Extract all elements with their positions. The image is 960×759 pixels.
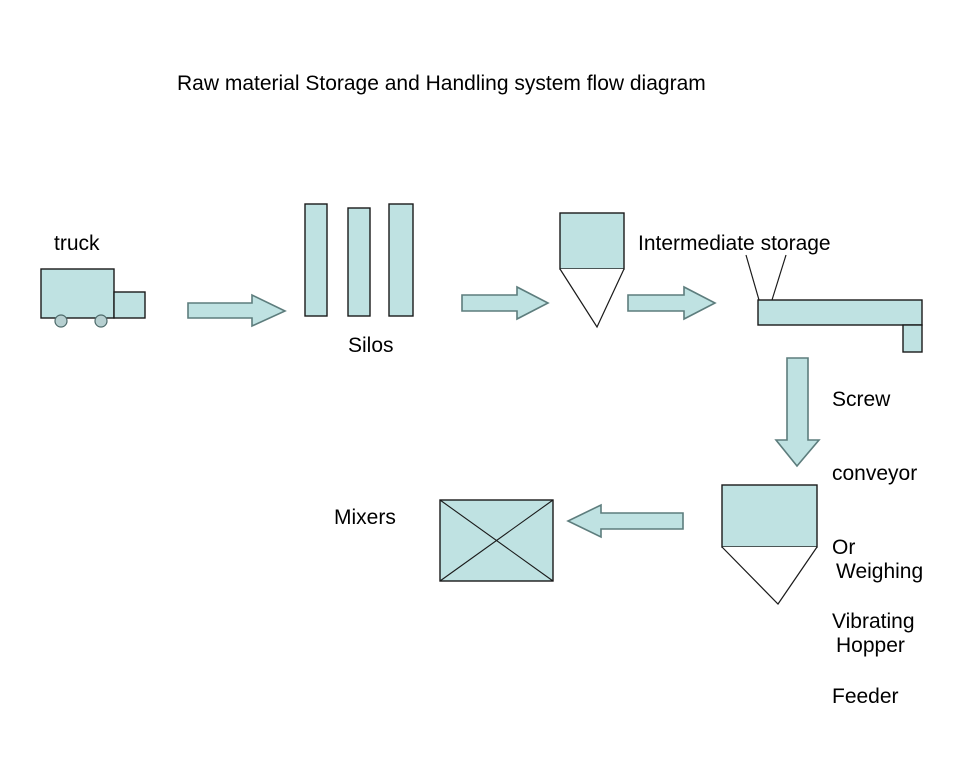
weighing-hopper-funnel (722, 547, 817, 604)
screw-conveyor-bar (758, 300, 922, 325)
label-weighing-hopper: Weighing Hopper (836, 510, 923, 708)
silos-shape[interactable] (305, 204, 413, 316)
intermediate-storage-shape[interactable] (560, 213, 624, 327)
truck-wheel-front (55, 315, 67, 327)
weighing-hopper-bin (722, 485, 817, 547)
label-silos: Silos (348, 334, 394, 359)
label-weighing-hopper-line-2: Hopper (836, 634, 923, 659)
silo-1 (305, 204, 327, 316)
arrow-weighing-hopper-to-mixers[interactable] (568, 505, 683, 537)
arrow-intermediate-storage-to-conveyor[interactable] (628, 287, 715, 319)
leader-line-right (772, 255, 786, 300)
label-screw-conveyor-line-1: Screw (832, 388, 917, 413)
silo-3 (389, 204, 413, 316)
label-mixers: Mixers (334, 506, 396, 531)
mixers-shape[interactable] (440, 500, 553, 581)
label-screw-conveyor-line-2: conveyor (832, 462, 917, 487)
intermediate-storage-bin (560, 213, 624, 269)
page-title: Raw material Storage and Handling system… (177, 72, 706, 97)
arrow-right-icon (188, 295, 285, 326)
label-weighing-hopper-line-1: Weighing (836, 560, 923, 585)
arrow-silos-to-intermediate-storage[interactable] (462, 287, 548, 319)
weighing-hopper-shape[interactable] (722, 485, 817, 604)
flow-diagram-canvas: Raw material Storage and Handling system… (0, 0, 960, 630)
label-intermediate-storage: Intermediate storage (638, 232, 831, 257)
arrow-truck-to-silos[interactable] (188, 295, 285, 326)
truck-trailer (114, 292, 145, 318)
truck-body (41, 269, 114, 318)
leader-line-left (746, 255, 759, 300)
arrow-right-icon (462, 287, 548, 319)
truck-wheel-rear (95, 315, 107, 327)
intermediate-storage-leader-lines (746, 255, 786, 300)
label-truck: truck (54, 232, 100, 257)
arrow-conveyor-to-weighing-hopper[interactable] (776, 358, 819, 466)
arrow-right-icon (628, 287, 715, 319)
intermediate-storage-funnel (560, 269, 624, 327)
truck-shape[interactable] (41, 269, 145, 327)
arrow-down-icon (776, 358, 819, 466)
arrow-left-icon (568, 505, 683, 537)
silo-2 (348, 208, 370, 316)
